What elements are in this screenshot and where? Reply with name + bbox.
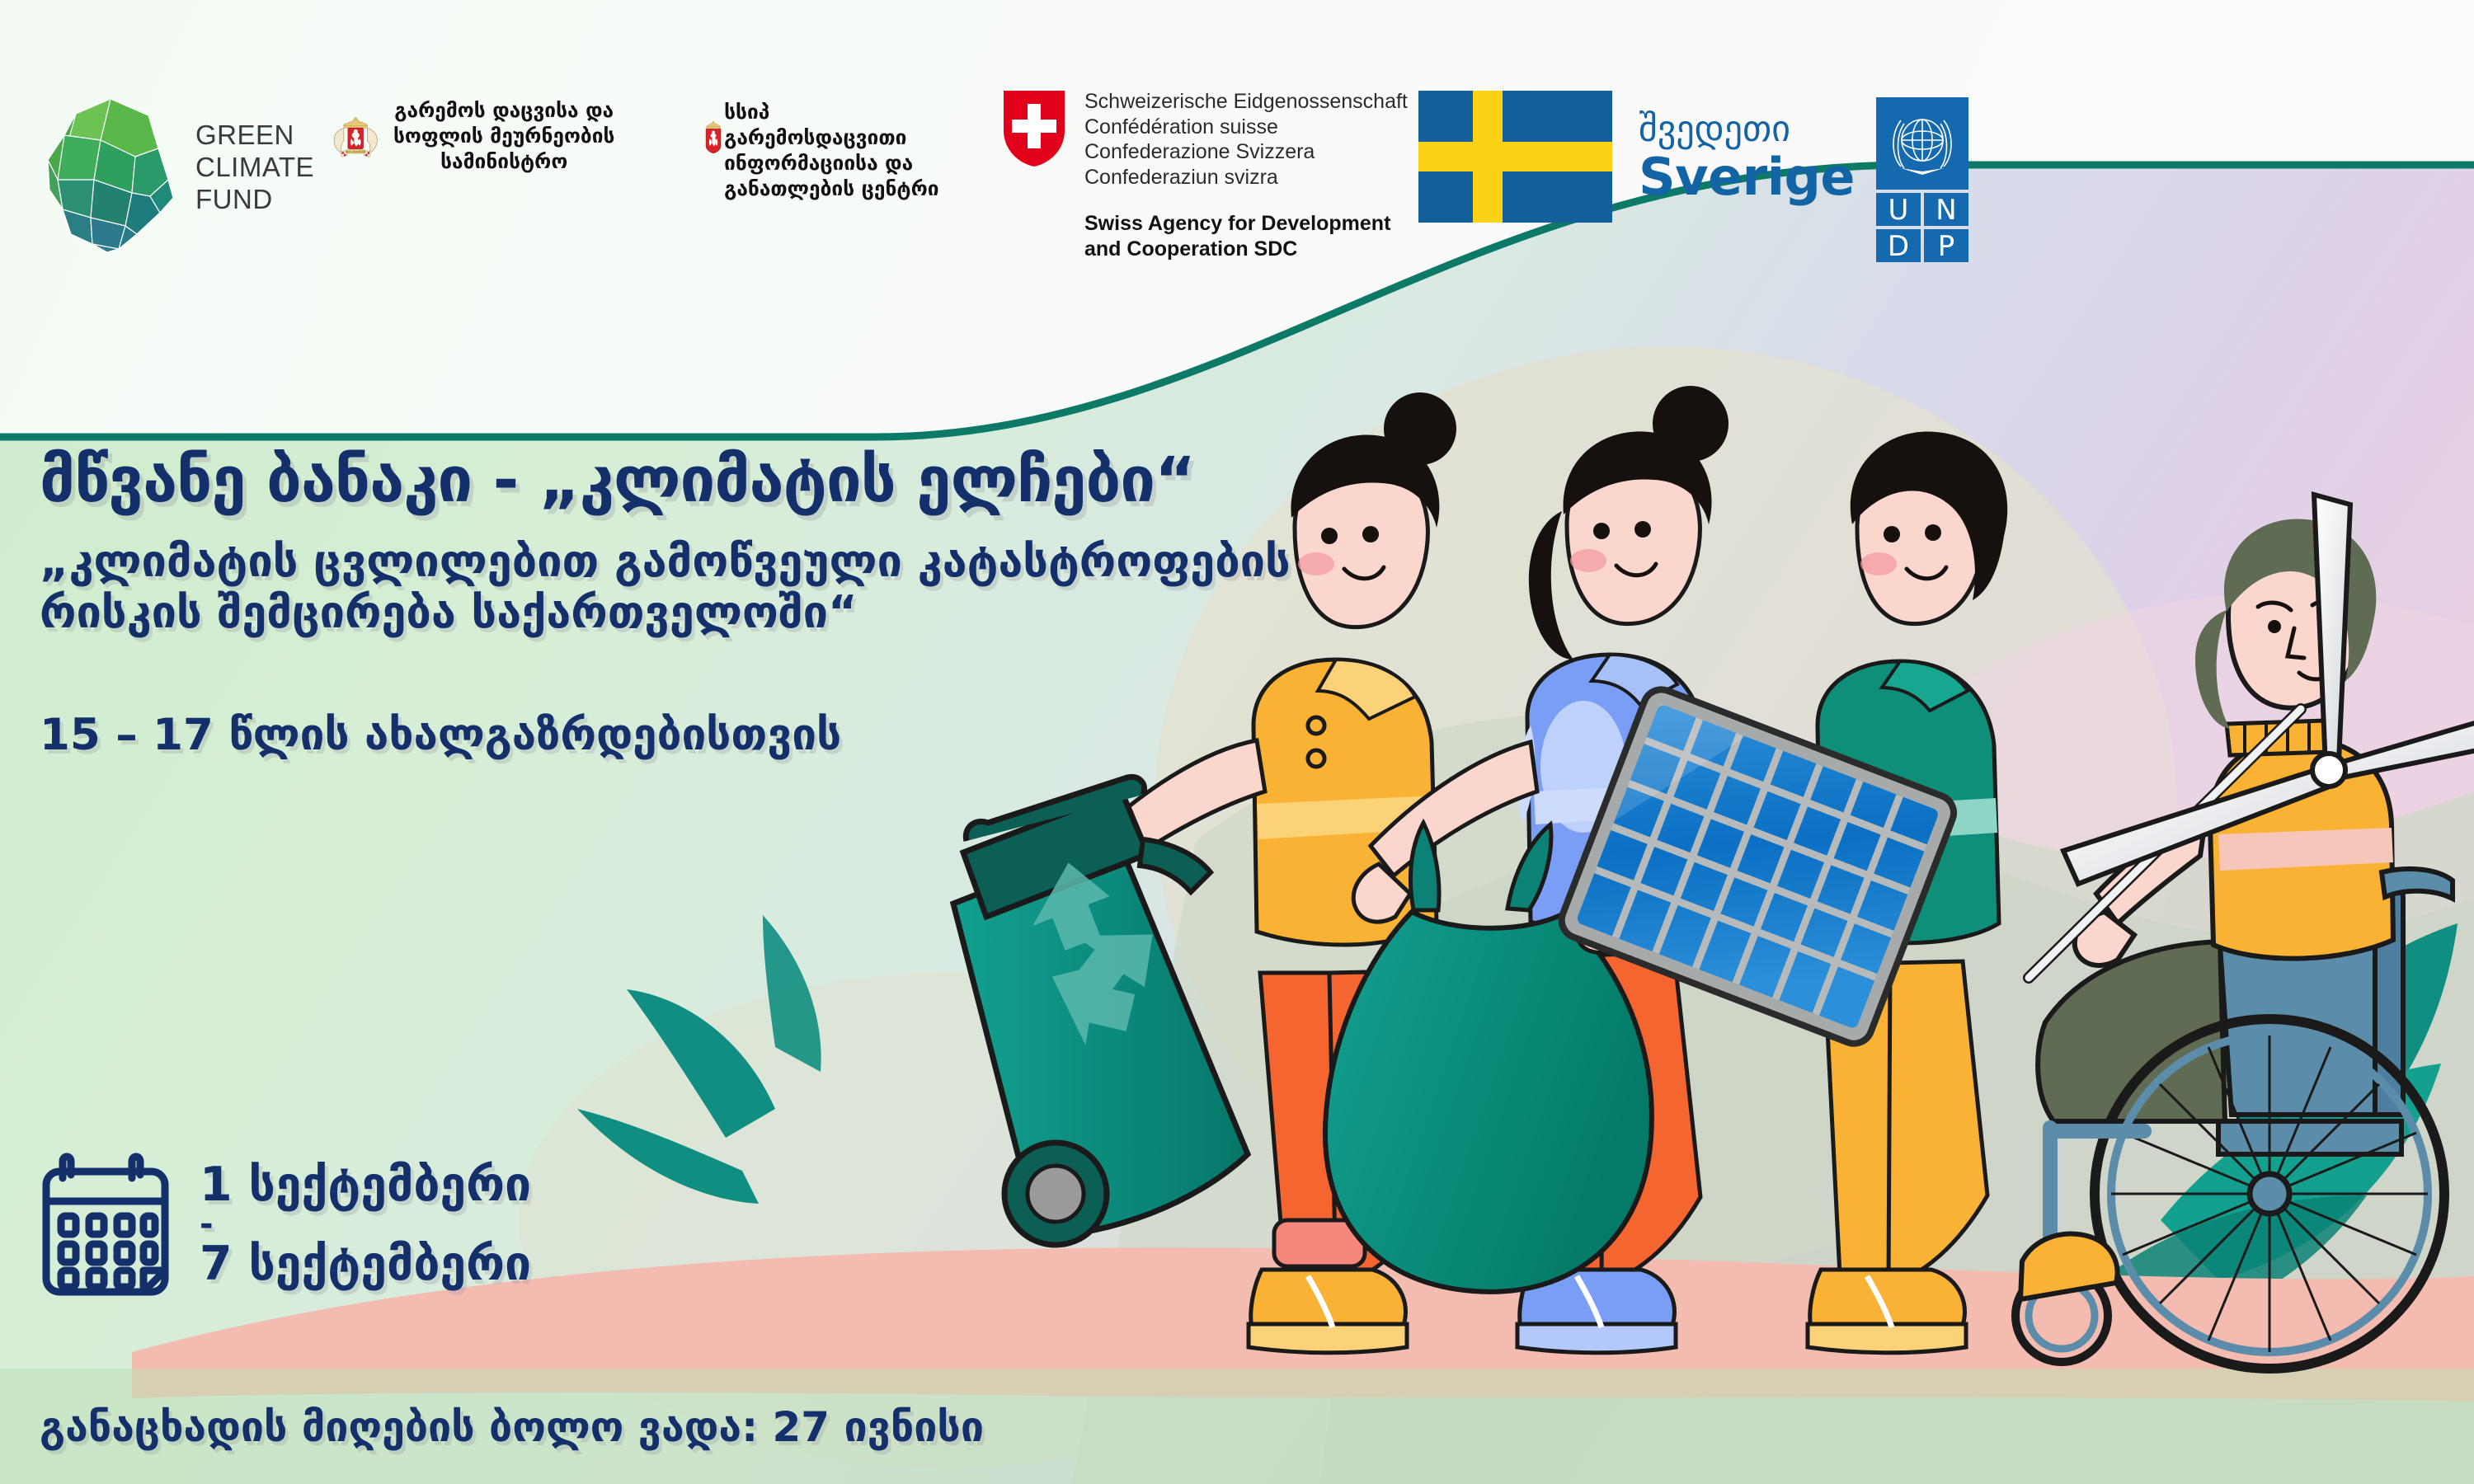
logo-swiss-sdc: Schweizerische Eidgenossenschaft Confédé… <box>1002 89 1408 261</box>
svg-text:ძალა ერთობაშია: ძალა ერთობაშია <box>346 150 366 153</box>
logo-sweden: შვედეთი Sverige <box>1418 91 1855 223</box>
georgia-coat-of-arms-icon: ძალა ერთობაშია <box>330 89 381 186</box>
calendar-icon <box>40 1150 172 1298</box>
camp-dates: 1 სექტემბერი - 7 სექტემბერი <box>200 1158 531 1291</box>
logo-ministry-environment-agriculture: ძალა ერთობაშია გარემოს დაცვისა და სოფლის… <box>330 89 627 186</box>
headline-block: მწვანე ბანაკი - „კლიმატის ელჩები“ „კლიმა… <box>40 445 1326 761</box>
ministry-name: გარემოს დაცვისა და სოფლის მეურნეობის სამ… <box>381 97 627 174</box>
sdc-wordmark: Schweizerische Eidgenossenschaft Confédé… <box>1084 89 1408 261</box>
sweden-flag-icon <box>1418 91 1612 223</box>
partner-logo-bar: GREEN CLIMATE FUND <box>0 0 2474 355</box>
page-title: მწვანე ბანაკი - „კლიმატის ელჩები“ <box>40 445 1326 514</box>
sweden-label-ka: შვედეთი <box>1639 109 1855 150</box>
svg-text:D: D <box>1888 230 1909 262</box>
sdc-line-it: Confederazione Svizzera <box>1084 139 1408 165</box>
wheelchair-wheel <box>2095 1019 2444 1369</box>
gcf-wordmark: GREEN CLIMATE FUND <box>195 119 314 215</box>
gcf-line-3: FUND <box>195 183 314 215</box>
swiss-shield-icon <box>1002 89 1066 168</box>
age-group-text: 15 – 17 წლის ახალგაზრდებისთვის <box>40 709 1326 761</box>
svg-text:U: U <box>1888 194 1909 227</box>
logo-aarhus-centre: სსიპ გარემოსდაცვითი ინფორმაციისა და განა… <box>676 89 948 201</box>
sdc-line-rm: Confederaziun svizra <box>1084 165 1408 190</box>
gcf-gem-icon <box>43 97 179 254</box>
gcf-line-1: GREEN <box>195 119 314 151</box>
shoe-orange-1 <box>1249 1270 1407 1353</box>
undp-emblem-icon: UN DP <box>1876 97 1968 262</box>
georgia-shield-icon <box>703 89 724 186</box>
sdc-line-de: Schweizerische Eidgenossenschaft <box>1084 89 1408 115</box>
date-start: 1 სექტემბერი <box>200 1158 531 1212</box>
sweden-label-en: Sverige <box>1639 150 1855 204</box>
gcf-line-2: CLIMATE <box>195 151 314 183</box>
logo-green-climate-fund: GREEN CLIMATE FUND <box>43 97 314 254</box>
sdc-line-en-1: Swiss Agency for Development <box>1084 211 1408 237</box>
date-separator: - <box>200 1212 531 1237</box>
sdc-line-en-2: and Cooperation SDC <box>1084 237 1408 262</box>
logo-undp: UN DP <box>1876 97 1968 262</box>
sdc-line-fr: Confédération suisse <box>1084 115 1408 140</box>
application-deadline: განაცხადის მიღების ბოლო ვადა: 27 ივნისი <box>40 1403 984 1451</box>
poster-canvas: GREEN CLIMATE FUND <box>0 0 2474 1484</box>
shoe-orange-2 <box>1808 1270 1966 1353</box>
svg-text:P: P <box>1938 230 1955 262</box>
sweden-wordmark: შვედეთი Sverige <box>1639 109 1855 204</box>
date-block: 1 სექტემბერი - 7 სექტემბერი <box>40 1150 531 1298</box>
aarhus-name: სსიპ გარემოსდაცვითი ინფორმაციისა და განა… <box>724 99 948 201</box>
project-subtitle: „კლიმატის ცვლილებით გამოწვეული კატასტროფ… <box>40 536 1326 638</box>
svg-text:N: N <box>1935 194 1956 227</box>
date-end: 7 სექტემბერი <box>200 1237 531 1291</box>
